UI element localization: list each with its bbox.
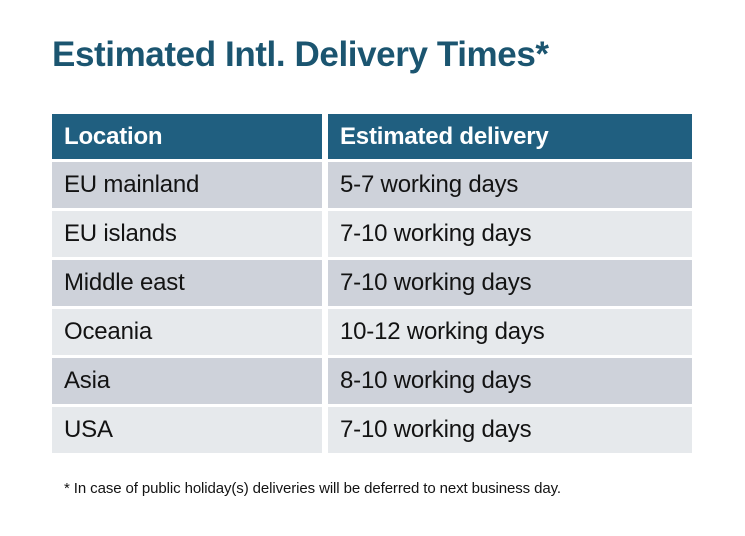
cell-estimated-delivery: 7-10 working days xyxy=(328,407,692,453)
delivery-times-page: Estimated Intl. Delivery Times* Location… xyxy=(0,0,745,536)
table-row: Asia 8-10 working days xyxy=(52,358,692,404)
footnote: * In case of public holiday(s) deliverie… xyxy=(64,480,561,497)
cell-estimated-delivery: 7-10 working days xyxy=(328,211,692,257)
table-header: Location Estimated delivery xyxy=(52,114,692,159)
column-header-location: Location xyxy=(52,114,322,159)
table-header-row: Location Estimated delivery xyxy=(52,114,692,159)
page-title: Estimated Intl. Delivery Times* xyxy=(52,36,549,75)
table-row: EU islands 7-10 working days xyxy=(52,211,692,257)
cell-location: Middle east xyxy=(52,260,322,306)
cell-location: EU mainland xyxy=(52,162,322,208)
cell-estimated-delivery: 5-7 working days xyxy=(328,162,692,208)
table-row: Oceania 10-12 working days xyxy=(52,309,692,355)
cell-estimated-delivery: 10-12 working days xyxy=(328,309,692,355)
cell-location: EU islands xyxy=(52,211,322,257)
table-body: EU mainland 5-7 working days EU islands … xyxy=(52,159,692,453)
cell-location: USA xyxy=(52,407,322,453)
cell-location: Oceania xyxy=(52,309,322,355)
table-row: EU mainland 5-7 working days xyxy=(52,162,692,208)
cell-location: Asia xyxy=(52,358,322,404)
table-row: USA 7-10 working days xyxy=(52,407,692,453)
cell-estimated-delivery: 7-10 working days xyxy=(328,260,692,306)
column-header-estimated-delivery: Estimated delivery xyxy=(328,114,692,159)
table-row: Middle east 7-10 working days xyxy=(52,260,692,306)
cell-estimated-delivery: 8-10 working days xyxy=(328,358,692,404)
delivery-times-table: Location Estimated delivery EU mainland … xyxy=(52,114,692,453)
